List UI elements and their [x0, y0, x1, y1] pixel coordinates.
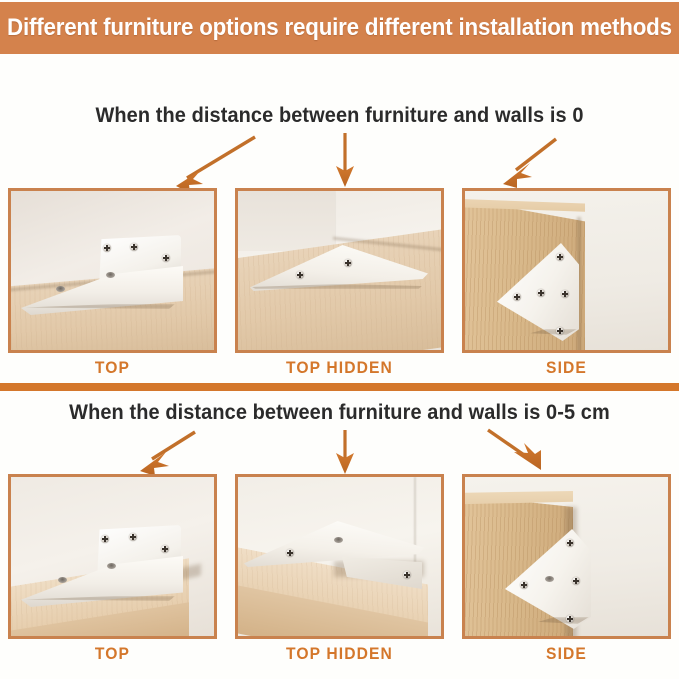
screw-icon [556, 327, 564, 335]
caption-top-row2: TOP [16, 644, 208, 664]
wall-shade-left [238, 191, 335, 251]
banner-title: Different furniture options require diff… [7, 14, 672, 42]
screw-icon [130, 243, 138, 251]
mounting-hole [106, 272, 115, 278]
screw-icon [129, 533, 137, 541]
panel-cell-side-row1: SIDE [462, 188, 671, 378]
screw-icon [103, 244, 111, 252]
section-heading-distance-zero: When the distance between furniture and … [17, 104, 662, 128]
arrow-row2-side [488, 430, 541, 470]
arrow-row1-top [176, 137, 255, 193]
mounting-hole [56, 286, 65, 292]
panel-cell-top-row1: TOP [8, 188, 217, 378]
screw-icon [513, 293, 521, 301]
screw-icon [566, 615, 574, 623]
photo-top-row1 [11, 191, 214, 350]
mounting-hole [545, 576, 554, 582]
screw-icon [520, 581, 528, 589]
header-banner: Different furniture options require diff… [0, 2, 679, 54]
panel-row-distance-0-5cm: TOP [0, 474, 679, 664]
panel-row-distance-zero: TOP TOP HIDDEN [0, 188, 679, 378]
photo-panel-side-row1[interactable] [462, 188, 671, 353]
arrow-row1-side [503, 139, 556, 188]
screw-icon [286, 549, 294, 557]
arrow-row2-top-hidden [336, 430, 354, 474]
caption-side-row2: SIDE [470, 644, 662, 664]
photo-side-row2 [465, 477, 668, 636]
screw-icon [537, 289, 545, 297]
panel-cell-top-hidden-row1: TOP HIDDEN [235, 188, 444, 378]
arrow-row2-top [140, 432, 195, 476]
panel-cell-side-row2: SIDE [462, 474, 671, 664]
panel-cell-top-row2: TOP [8, 474, 217, 664]
screw-icon [561, 290, 569, 298]
section-divider [0, 383, 679, 391]
photo-top-hidden-row1 [238, 191, 441, 350]
photo-top-row2 [11, 477, 214, 636]
photo-panel-top-row1[interactable] [8, 188, 217, 353]
mounting-hole [334, 537, 343, 543]
photo-side-row1 [465, 191, 668, 350]
caption-top-hidden-row2: TOP HIDDEN [243, 644, 435, 664]
photo-panel-top-hidden-row2[interactable] [235, 474, 444, 639]
mounting-hole [107, 563, 116, 569]
infographic-page: Different furniture options require diff… [0, 0, 679, 679]
mounting-hole [58, 577, 67, 583]
photo-panel-top-hidden-row1[interactable] [235, 188, 444, 353]
arrow-row1-top-hidden [336, 133, 354, 187]
screw-icon [101, 535, 109, 543]
screw-icon [344, 259, 352, 267]
screw-icon [162, 254, 170, 262]
caption-top-row1: TOP [16, 358, 208, 378]
screw-icon [296, 271, 304, 279]
section-heading-distance-0-5cm: When the distance between furniture and … [17, 401, 662, 425]
photo-panel-side-row2[interactable] [462, 474, 671, 639]
caption-top-hidden-row1: TOP HIDDEN [243, 358, 435, 378]
photo-top-hidden-row2 [238, 477, 441, 636]
caption-side-row1: SIDE [470, 358, 662, 378]
panel-cell-top-hidden-row2: TOP HIDDEN [235, 474, 444, 664]
screw-icon [566, 539, 574, 547]
photo-panel-top-row2[interactable] [8, 474, 217, 639]
screw-icon [161, 545, 169, 553]
screw-icon [572, 577, 580, 585]
screw-icon [556, 253, 564, 261]
screw-icon [403, 571, 411, 579]
